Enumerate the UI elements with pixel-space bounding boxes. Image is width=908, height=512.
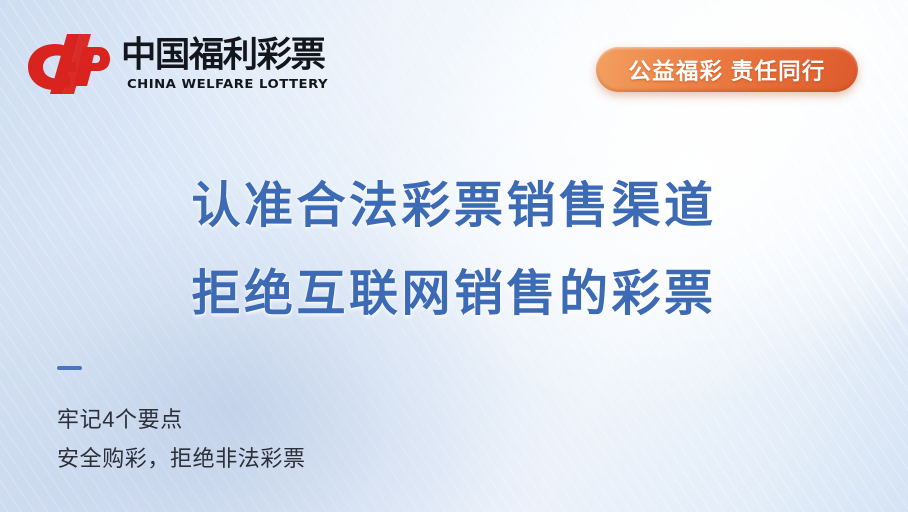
slogan-badge-label: 公益福彩 责任同行 [628,54,825,86]
brand-name-en-text: CHINA WELFARE LOTTERY [127,77,328,91]
slogan-badge: 公益福彩 责任同行 [596,47,858,92]
divider-dash [57,366,82,370]
headline: 认准合法彩票销售渠道 拒绝互联网销售的彩票 [0,162,908,338]
brand-logo: 中国福利彩票 CHINA WELFARE LOTTERY [24,30,335,96]
lottery-awareness-poster: 中国福利彩票 CHINA WELFARE LOTTERY 公益福彩 责任同行 认… [0,0,908,512]
headline-line-2: 拒绝互联网销售的彩票 [0,250,908,338]
footer-line-1: 牢记4个要点 [57,400,306,439]
brand-name-cn-text: 中国福利彩票 [121,35,326,75]
brand-wordmark: 中国福利彩票 CHINA WELFARE LOTTERY [121,35,335,91]
footer-line-2: 安全购彩，拒绝非法彩票 [57,439,306,478]
brand-name-cn-icon: 中国福利彩票 [121,35,335,75]
brand-name-en-icon: CHINA WELFARE LOTTERY [121,76,335,91]
headline-line-1: 认准合法彩票销售渠道 [0,162,908,250]
footer-block: 牢记4个要点 安全购彩，拒绝非法彩票 [57,366,306,478]
china-welfare-lottery-emblem-icon [24,30,110,96]
